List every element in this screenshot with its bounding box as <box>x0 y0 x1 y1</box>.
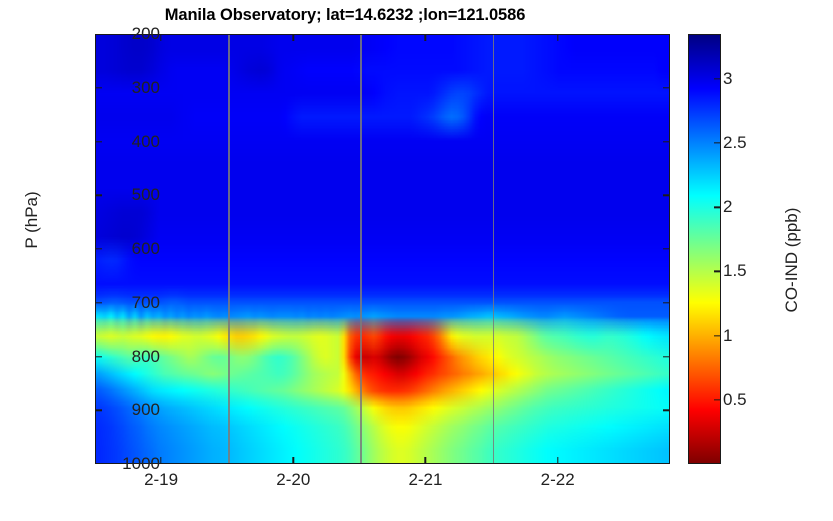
x-axis-tick-mark <box>557 457 558 464</box>
colorbar-tick-label: 1 <box>723 326 732 346</box>
colorbar-label: CO-IND (ppb) <box>782 160 802 360</box>
chart-title: Manila Observatory; lat=14.6232 ;lon=121… <box>0 6 690 25</box>
y-axis-label: P (hPa) <box>22 150 42 290</box>
y-axis-tick-mark <box>95 141 102 142</box>
colorbar-tick-mark <box>714 271 721 272</box>
colorbar-tick-label: 1.5 <box>723 261 747 281</box>
y-axis-tick-mark <box>663 302 670 303</box>
colorbar-tick-mark <box>714 142 721 143</box>
y-axis-tick-label: 600 <box>132 239 160 259</box>
y-axis-tick-label: 400 <box>132 132 160 152</box>
x-axis-tick-mark <box>293 457 294 464</box>
y-axis-tick-mark <box>95 248 102 249</box>
vertical-gridline <box>360 35 361 463</box>
x-axis-tick-mark <box>557 34 558 41</box>
colorbar-tick-mark <box>714 207 721 208</box>
y-axis-tick-mark <box>663 87 670 88</box>
y-axis-tick-label: 800 <box>132 347 160 367</box>
y-axis-tick-label: 900 <box>132 400 160 420</box>
y-axis-tick-mark <box>663 141 670 142</box>
vertical-gridline <box>493 35 494 463</box>
y-axis-tick-mark <box>95 356 102 357</box>
x-axis-tick-mark <box>425 457 426 464</box>
y-axis-tick-mark <box>663 356 670 357</box>
heatmap-plot-area[interactable] <box>95 34 670 464</box>
colorbar-tick-label: 2.5 <box>723 133 747 153</box>
colorbar-tick-mark <box>714 78 721 79</box>
colorbar-tick-label: 2 <box>723 197 732 217</box>
x-axis-tick-mark <box>160 457 161 464</box>
y-axis-tick-mark <box>663 410 670 411</box>
y-axis-tick-mark <box>95 195 102 196</box>
x-axis-tick-label: 2-20 <box>276 470 310 490</box>
x-axis-tick-label: 2-19 <box>144 470 178 490</box>
x-axis-tick-mark <box>293 34 294 41</box>
colorbar-tick-mark <box>714 399 721 400</box>
figure-canvas: Manila Observatory; lat=14.6232 ;lon=121… <box>0 0 833 521</box>
colorbar-tick-mark <box>714 335 721 336</box>
y-axis-tick-mark <box>663 248 670 249</box>
vertical-gridline <box>228 35 229 463</box>
y-axis-tick-label: 300 <box>132 78 160 98</box>
x-axis-tick-label: 2-21 <box>408 470 442 490</box>
y-axis-tick-label: 200 <box>132 24 160 44</box>
y-axis-tick-mark <box>95 302 102 303</box>
y-axis-tick-mark <box>95 87 102 88</box>
y-axis-tick-label: 700 <box>132 293 160 313</box>
x-axis-tick-label: 2-22 <box>541 470 575 490</box>
y-axis-tick-label: 500 <box>132 185 160 205</box>
x-axis-tick-mark <box>425 34 426 41</box>
colorbar-tick-label: 0.5 <box>723 390 747 410</box>
y-axis-tick-mark <box>663 195 670 196</box>
colorbar-tick-label: 3 <box>723 69 732 89</box>
heatmap-image <box>96 35 669 463</box>
x-axis-tick-mark <box>160 34 161 41</box>
y-axis-tick-mark <box>95 410 102 411</box>
